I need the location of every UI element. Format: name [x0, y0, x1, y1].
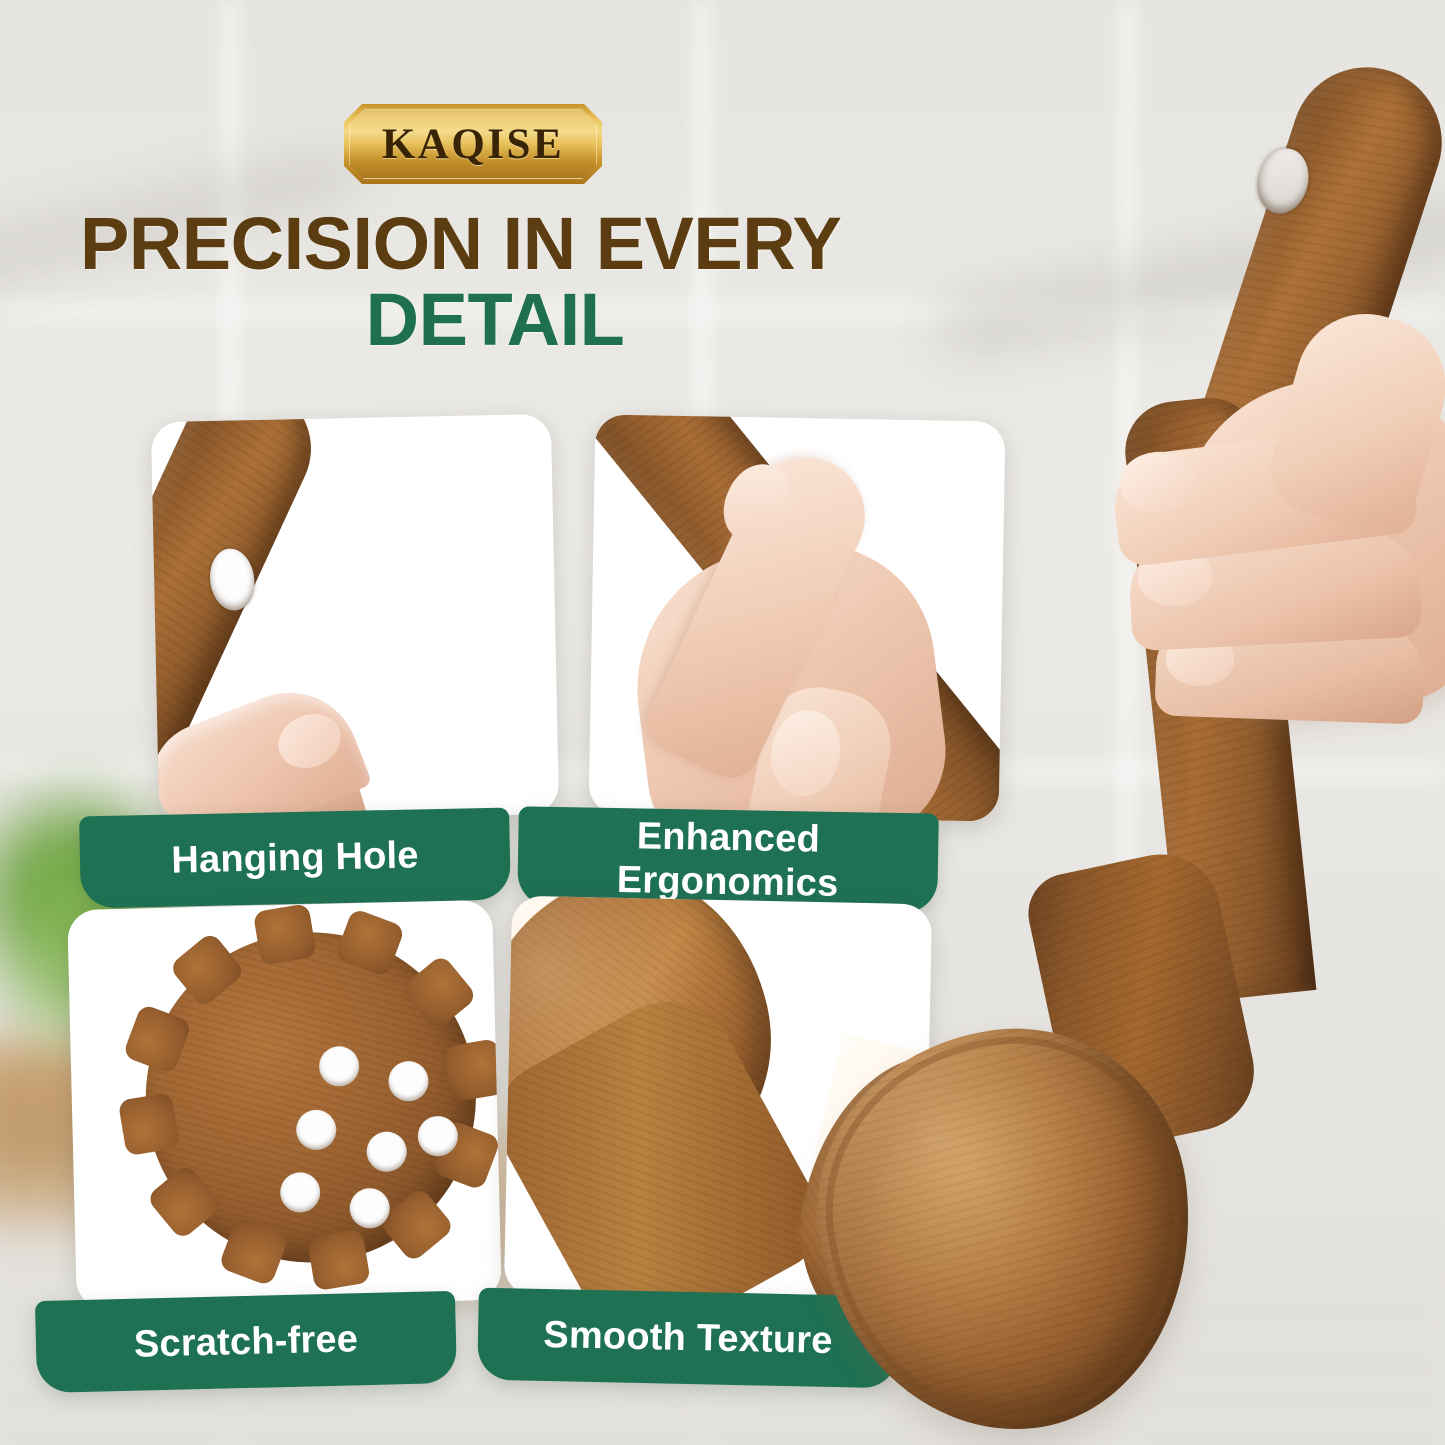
gear-tooth	[401, 954, 478, 1032]
feature-label-band: Scratch-free	[35, 1291, 457, 1393]
drainage-hole	[364, 1129, 410, 1175]
feature-label-text: Scratch-free	[133, 1317, 358, 1366]
pasta-server-disc	[121, 908, 500, 1287]
gear-tooth	[253, 903, 317, 965]
gear-tooth	[122, 1003, 192, 1074]
drainage-hole	[316, 1043, 362, 1089]
brand-name: KAQISE	[344, 104, 602, 184]
drainage-hole	[385, 1058, 431, 1104]
gear-tooth	[218, 1217, 289, 1287]
headline-line-1: PRECISION IN EVERY	[80, 207, 910, 281]
feature-photo-scratch-free	[67, 900, 502, 1310]
drainage-hole	[277, 1170, 323, 1216]
feature-label-band: Hanging Hole	[79, 808, 511, 909]
brand-badge: KAQISE	[344, 104, 602, 184]
drainage-hole	[293, 1107, 339, 1153]
gear-tooth	[443, 1038, 501, 1102]
gear-tooth	[168, 931, 246, 1008]
gear-tooth	[307, 1229, 371, 1291]
gear-tooth	[378, 1186, 456, 1263]
hero-product-image	[790, 20, 1445, 1440]
product-infographic: KAQISE PRECISION IN EVERY DETAIL Hanging…	[0, 0, 1445, 1445]
feature-label-text: Hanging Hole	[171, 833, 419, 882]
headline-line-2: DETAIL	[80, 283, 910, 357]
gear-tooth	[146, 1163, 223, 1241]
feature-photo-hanging-hole	[151, 414, 559, 822]
gear-tooth	[118, 1092, 180, 1156]
gear-tooth	[334, 908, 405, 978]
hand-holding-ladle	[1090, 320, 1445, 740]
